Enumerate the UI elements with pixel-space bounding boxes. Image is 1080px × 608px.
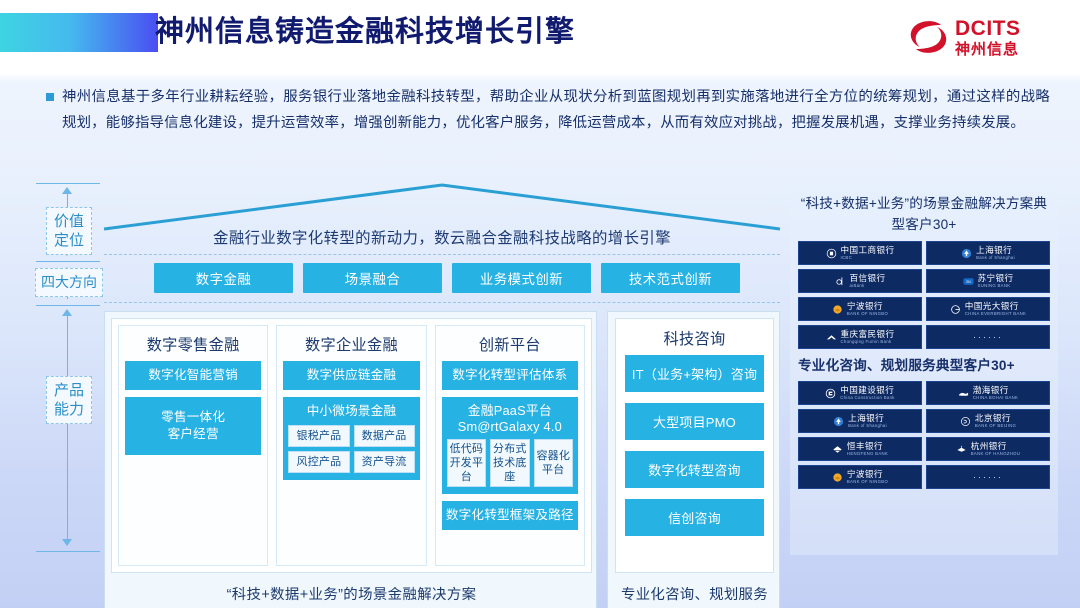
icbc-icon [826,248,837,259]
paas-title-line1: 金融PaaS平台 [468,403,552,418]
customer-logo-text: 宁波银行BANK OF NINGBO [847,302,888,316]
axis-arrow-up-3 [62,309,72,316]
customer-logo-text: 重庆富民银行Chongqing Fumin Bank [841,330,895,344]
slide-header: 神州信息铸造金融科技增长引擎 DCITS 神州信息 [0,0,1080,72]
four-directions-row: 数字金融 场景融合 业务模式创新 技术范式创新 [154,263,740,293]
product-group-sme-scenario-finance[interactable]: 中小微场景金融 银税产品 数据产品 风控产品 资产导流 [283,397,419,480]
dcits-logo: DCITS 神州信息 [908,14,1044,60]
product-column-retail-finance: 数字零售金融 数字化智能营销 零售一体化 客户经营 [118,325,268,566]
consulting-column-title: 科技咨询 [625,325,764,355]
customer-logo-name-cn: 百信银行 [850,274,886,283]
product-column-innovation-platform: 创新平台 数字化转型评估体系 金融PaaS平台 Sm@rtGalaxy 4.0 … [435,325,585,566]
bank-of-ningbo-icon [832,304,843,315]
product-block-transformation-assessment[interactable]: 数字化转型评估体系 [442,361,578,390]
product-block-supply-chain-finance[interactable]: 数字供应链金融 [283,361,419,390]
axis-arrow-down-3 [62,539,72,546]
paas-cell-lowcode[interactable]: 低代码开发平台 [447,439,486,487]
customer-logo-name-cn: 苏宁银行 [978,274,1014,283]
page-title: 神州信息铸造金融科技增长引擎 [155,10,575,54]
column-title: 创新平台 [442,331,578,361]
consulting-panel-inner: 科技咨询 IT（业务+架构）咨询 大型项目PMO 数字化转型咨询 信创咨询 [615,318,774,573]
fumin-bank-icon [826,332,837,343]
customer-logo-text: 恒丰银行HENGFENG BANK [847,442,888,456]
customer-logo-name-cn: 中国工商银行 [841,246,895,255]
chip-asset-routing[interactable]: 资产导流 [354,451,415,473]
customer-logo-name-en: China Construction Bank [840,396,894,400]
axis-divider-top [36,183,100,184]
customer-logo-name-en: CHINA BOHAI BANK [973,396,1018,400]
dashed-separator-top [104,254,780,255]
bohai-bank-icon [958,388,969,399]
customer-logo-tile: 杭州银行BANK OF HANGZHOU [926,437,1050,461]
product-column-enterprise-finance: 数字企业金融 数字供应链金融 中小微场景金融 银税产品 数据产品 风控产品 资产… [276,325,426,566]
customer-logo-tile: 重庆富民银行Chongqing Fumin Bank [798,325,922,349]
direction-tag-1[interactable]: 数字金融 [154,263,293,293]
bullet-square-icon [46,93,54,101]
product-group-financial-paas[interactable]: 金融PaaS平台 Sm@rtGalaxy 4.0 低代码开发平台 分布式技术底座… [442,397,578,494]
product-block-line1: 零售一体化 [161,410,225,424]
group-chip-list: 银税产品 数据产品 风控产品 资产导流 [288,425,414,473]
paas-cell-distributed[interactable]: 分布式技术底座 [490,439,529,487]
customer-logo-name-cn: 宁波银行 [847,470,888,479]
paas-cell-row: 低代码开发平台 分布式技术底座 容器化平台 [447,439,573,487]
paas-cell-container[interactable]: 容器化平台 [534,439,573,487]
customer-logo-text: 苏宁银行SUNING BANK [978,274,1014,288]
customer-logo-name-cn: 上海银行 [976,246,1015,255]
customer-logo-text: 杭州银行BANK OF HANGZHOU [971,442,1020,456]
aibank-icon [835,276,846,287]
product-block-line2: 客户经营 [168,427,219,441]
customer-logo-text: 宁波银行BANK OF NINGBO [847,470,888,484]
customer-logo-name-cn: 北京银行 [975,414,1016,423]
customer-logo-tile: 中国建设银行China Construction Bank [798,381,922,405]
ccb-icon [825,388,836,399]
customer-logo-tile: 宁波银行BANK OF NINGBO [798,465,922,489]
svg-text:SN: SN [966,279,971,283]
dcits-swirl-icon [908,18,948,56]
intro-text: 神州信息基于多年行业耕耘经验，服务银行业落地金融科技转型，帮助企业从现状分析到蓝… [40,84,1050,136]
customer-logo-tile: 上海银行Bank of Shanghai [926,241,1050,265]
customer-heading-solutions: “科技+数据+业务”的场景金融解决方案典型客户30+ [798,191,1050,241]
axis-arrow-up-1 [62,187,72,194]
bank-of-beijing-icon [960,416,971,427]
paas-title-line2: Sm@rtGalaxy 4.0 [458,419,562,434]
direction-tag-2[interactable]: 场景融合 [303,263,442,293]
customer-logo-tile: ······ [926,325,1050,349]
customer-logo-name-en: ICBC [841,256,895,260]
more-dots-icon: ······ [973,472,1003,482]
axis-arrow-shaft-3 [67,311,68,545]
consulting-block-pmo[interactable]: 大型项目PMO [625,403,764,440]
product-block-transformation-framework[interactable]: 数字化转型框架及路径 [442,501,578,530]
everbright-bank-icon [950,304,961,315]
customer-logo-text: 百信银行aiBank [850,274,886,288]
center-slogan: 金融行业数字化转型的新动力，数云融合金融科技战略的增长引擎 [104,226,780,248]
customer-logo-name-en: BANK OF HANGZHOU [971,452,1020,456]
customer-heading-consulting: 专业化咨询、规划服务典型客户30+ [798,349,1050,381]
customer-logo-text: 上海银行Bank of Shanghai [976,246,1015,260]
consulting-block-digital-transformation[interactable]: 数字化转型咨询 [625,451,764,488]
customer-logo-text: 中国建设银行China Construction Bank [840,386,894,400]
axis-tag-four-directions: 四大方向 [35,268,103,297]
customer-logo-tile: 宁波银行BANK OF NINGBO [798,297,922,321]
customer-logo-tile: 渤海银行CHINA BOHAI BANK [926,381,1050,405]
customer-logo-name-cn: 中国光大银行 [965,302,1026,311]
customer-logo-text: 中国光大银行CHINA EVERBRIGHT BANK [965,302,1026,316]
customer-logo-name-cn: 渤海银行 [973,386,1018,395]
column-title: 数字企业金融 [283,331,419,361]
slide-root: 神州信息铸造金融科技增长引擎 DCITS 神州信息 神州信息基于多年行业耕耘经验… [0,0,1080,608]
product-block-smart-marketing[interactable]: 数字化智能营销 [125,361,261,390]
customer-logo-name-en: aiBank [850,284,886,288]
axis-tag-product-capability: 产品能力 [46,376,92,424]
customer-logo-name-en: Bank of Shanghai [848,424,887,428]
bank-of-hangzhou-icon [956,444,967,455]
axis-divider-mid2 [36,305,100,306]
customer-logo-name-cn: 宁波银行 [847,302,888,311]
logo-text-en: DCITS [955,18,1021,39]
logo-text-cn: 神州信息 [955,42,1021,57]
chip-riskctl-product[interactable]: 风控产品 [288,451,349,473]
customer-logo-text: 北京银行BANK OF BEIJING [975,414,1016,428]
customer-logo-tile: ······ [926,465,1050,489]
customer-logo-name-cn: 杭州银行 [971,442,1020,451]
customer-logo-name-cn: 上海银行 [848,414,887,423]
customer-logo-name-en: BANK OF BEIJING [975,424,1016,428]
group-title: 中小微场景金融 [288,403,414,420]
customer-logo-text: 中国工商银行ICBC [841,246,895,260]
consulting-panel-caption: 专业化咨询、规划服务 [608,583,781,604]
solution-panel-caption: “科技+数据+业务”的场景金融解决方案 [105,583,598,604]
hengfeng-bank-icon [832,444,843,455]
consulting-panel: 科技咨询 IT（业务+架构）咨询 大型项目PMO 数字化转型咨询 信创咨询 专业… [607,311,780,608]
axis-divider-bottom [36,551,100,552]
customer-logo-name-en: SUNING BANK [978,284,1014,288]
customer-logo-text: 上海银行Bank of Shanghai [848,414,887,428]
customer-logo-tile: 恒丰银行HENGFENG BANK [798,437,922,461]
suning-bank-icon: SN [963,276,974,287]
customer-logo-text: 渤海银行CHINA BOHAI BANK [973,386,1018,400]
customer-logo-name-cn: 恒丰银行 [847,442,888,451]
consulting-block-xinchuang[interactable]: 信创咨询 [625,499,764,536]
roof-chevron-icon [104,183,780,231]
axis-divider-mid1 [36,261,100,262]
paas-title: 金融PaaS平台 Sm@rtGalaxy 4.0 [447,403,573,435]
customer-logo-name-en: Bank of Shanghai [976,256,1015,260]
customer-logo-name-en: BANK OF NINGBO [847,480,888,484]
dashed-separator-bottom [104,302,780,303]
solution-panel-inner: 数字零售金融 数字化智能营销 零售一体化 客户经营 数字企业金融 数字供应链金融… [111,318,592,573]
left-axis-column: 价值定位 四大方向 产品能力 [30,183,102,555]
customer-logo-name-en: CHINA EVERBRIGHT BANK [965,312,1026,316]
customer-logo-tile: 北京银行BANK OF BEIJING [926,409,1050,433]
column-title: 数字零售金融 [125,331,261,361]
direction-tag-3[interactable]: 业务模式创新 [452,263,591,293]
customer-logo-tile: 上海银行Bank of Shanghai [798,409,922,433]
chip-data-product[interactable]: 数据产品 [354,425,415,447]
customer-logo-grid-consulting: 中国建设银行China Construction Bank渤海银行CHINA B… [798,381,1050,489]
more-dots-icon: ······ [973,332,1003,342]
solution-panel: 数字零售金融 数字化智能营销 零售一体化 客户经营 数字企业金融 数字供应链金融… [104,311,597,608]
product-block-retail-integrated[interactable]: 零售一体化 客户经营 [125,397,261,455]
customer-logo-grid-solutions: 中国工商银行ICBC上海银行Bank of Shanghai百信银行aiBank… [798,241,1050,349]
customer-logo-tile: SN苏宁银行SUNING BANK [926,269,1050,293]
customer-logo-tile: 中国工商银行ICBC [798,241,922,265]
customer-logo-name-cn: 中国建设银行 [840,386,894,395]
customer-logos-panel: “科技+数据+业务”的场景金融解决方案典型客户30+ 中国工商银行ICBC上海银… [790,183,1058,555]
customer-logo-tile: 中国光大银行CHINA EVERBRIGHT BANK [926,297,1050,321]
axis-tag-value-positioning: 价值定位 [46,207,92,255]
bank-of-shanghai-icon [833,416,844,427]
customer-logo-name-cn: 重庆富民银行 [841,330,895,339]
customer-logo-name-en: BANK OF NINGBO [847,312,888,316]
intro-paragraph: 神州信息基于多年行业耕耘经验，服务银行业落地金融科技转型，帮助企业从现状分析到蓝… [40,84,1050,136]
title-accent-block [0,13,158,52]
customer-logo-tile: 百信银行aiBank [798,269,922,293]
customer-logo-name-en: HENGFENG BANK [847,452,888,456]
bank-of-shanghai-icon [961,248,972,259]
direction-tag-4[interactable]: 技术范式创新 [601,263,740,293]
bank-of-ningbo-icon [832,472,843,483]
product-capability-area: 数字零售金融 数字化智能营销 零售一体化 客户经营 数字企业金融 数字供应链金融… [104,311,780,608]
customer-logo-name-en: Chongqing Fumin Bank [841,340,895,344]
chip-tax-product[interactable]: 银税产品 [288,425,349,447]
consulting-block-it[interactable]: IT（业务+架构）咨询 [625,355,764,392]
